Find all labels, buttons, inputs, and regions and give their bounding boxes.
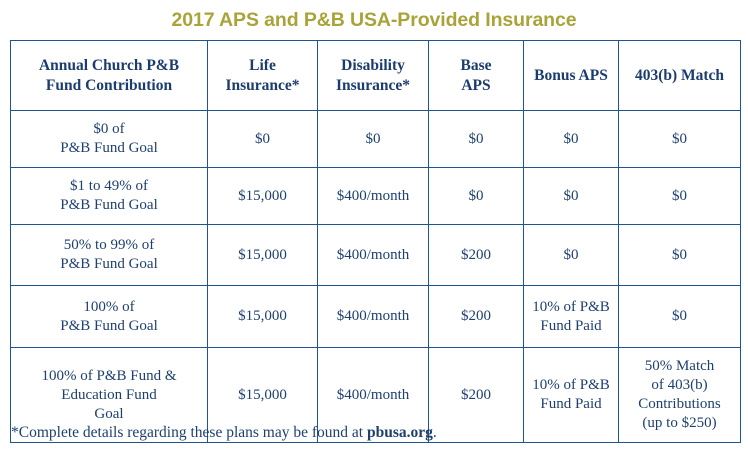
cell-life-insurance: $15,000 <box>208 286 318 348</box>
cell-life-insurance: $0 <box>208 111 318 168</box>
table-row: 50% to 99% ofP&B Fund Goal $15,000 $400/… <box>11 225 741 286</box>
cell-403b-match: $0 <box>619 286 741 348</box>
cell-contribution: 100% ofP&B Fund Goal <box>11 286 208 348</box>
column-header-bonus-aps: Bonus APS <box>524 41 619 111</box>
table-row: 100% ofP&B Fund Goal $15,000 $400/month … <box>11 286 741 348</box>
cell-403b-match: 50% Matchof 403(b)Contributions(up to $2… <box>619 348 741 443</box>
cell-disability-insurance: $0 <box>318 111 429 168</box>
footnote: *Complete details regarding these plans … <box>11 423 437 443</box>
footnote-link[interactable]: pbusa.org <box>367 424 433 441</box>
cell-disability-insurance: $400/month <box>318 168 429 225</box>
column-header-contribution: Annual Church P&BFund Contribution <box>11 41 208 111</box>
table-header-row: Annual Church P&BFund Contribution LifeI… <box>11 41 741 111</box>
cell-base-aps: $200 <box>429 286 524 348</box>
cell-bonus-aps: $0 <box>524 225 619 286</box>
column-header-base-aps: BaseAPS <box>429 41 524 111</box>
cell-403b-match: $0 <box>619 168 741 225</box>
cell-base-aps: $0 <box>429 168 524 225</box>
page-title: 2017 APS and P&B USA-Provided Insurance <box>0 0 748 32</box>
insurance-table-container: Annual Church P&BFund Contribution LifeI… <box>10 40 740 443</box>
cell-base-aps: $200 <box>429 225 524 286</box>
column-header-403b-match: 403(b) Match <box>619 41 741 111</box>
cell-bonus-aps: 10% of P&BFund Paid <box>524 348 619 443</box>
cell-bonus-aps: $0 <box>524 111 619 168</box>
column-header-disability-insurance: DisabilityInsurance* <box>318 41 429 111</box>
cell-life-insurance: $15,000 <box>208 168 318 225</box>
insurance-benefits-table: Annual Church P&BFund Contribution LifeI… <box>10 40 741 443</box>
column-header-life-insurance: LifeInsurance* <box>208 41 318 111</box>
footnote-suffix: . <box>433 424 437 441</box>
cell-disability-insurance: $400/month <box>318 225 429 286</box>
cell-base-aps: $200 <box>429 348 524 443</box>
cell-contribution: $1 to 49% ofP&B Fund Goal <box>11 168 208 225</box>
insurance-benefits-page: 2017 APS and P&B USA-Provided Insurance … <box>0 0 748 450</box>
footnote-prefix: *Complete details regarding these plans … <box>11 424 367 441</box>
cell-403b-match: $0 <box>619 225 741 286</box>
cell-bonus-aps: $0 <box>524 168 619 225</box>
cell-disability-insurance: $400/month <box>318 286 429 348</box>
table-row: $1 to 49% ofP&B Fund Goal $15,000 $400/m… <box>11 168 741 225</box>
cell-contribution: $0 ofP&B Fund Goal <box>11 111 208 168</box>
table-body: $0 ofP&B Fund Goal $0 $0 $0 $0 $0 $1 to … <box>11 111 741 443</box>
cell-contribution: 50% to 99% ofP&B Fund Goal <box>11 225 208 286</box>
cell-life-insurance: $15,000 <box>208 225 318 286</box>
table-row: $0 ofP&B Fund Goal $0 $0 $0 $0 $0 <box>11 111 741 168</box>
cell-bonus-aps: 10% of P&BFund Paid <box>524 286 619 348</box>
cell-base-aps: $0 <box>429 111 524 168</box>
cell-403b-match: $0 <box>619 111 741 168</box>
table-header: Annual Church P&BFund Contribution LifeI… <box>11 41 741 111</box>
